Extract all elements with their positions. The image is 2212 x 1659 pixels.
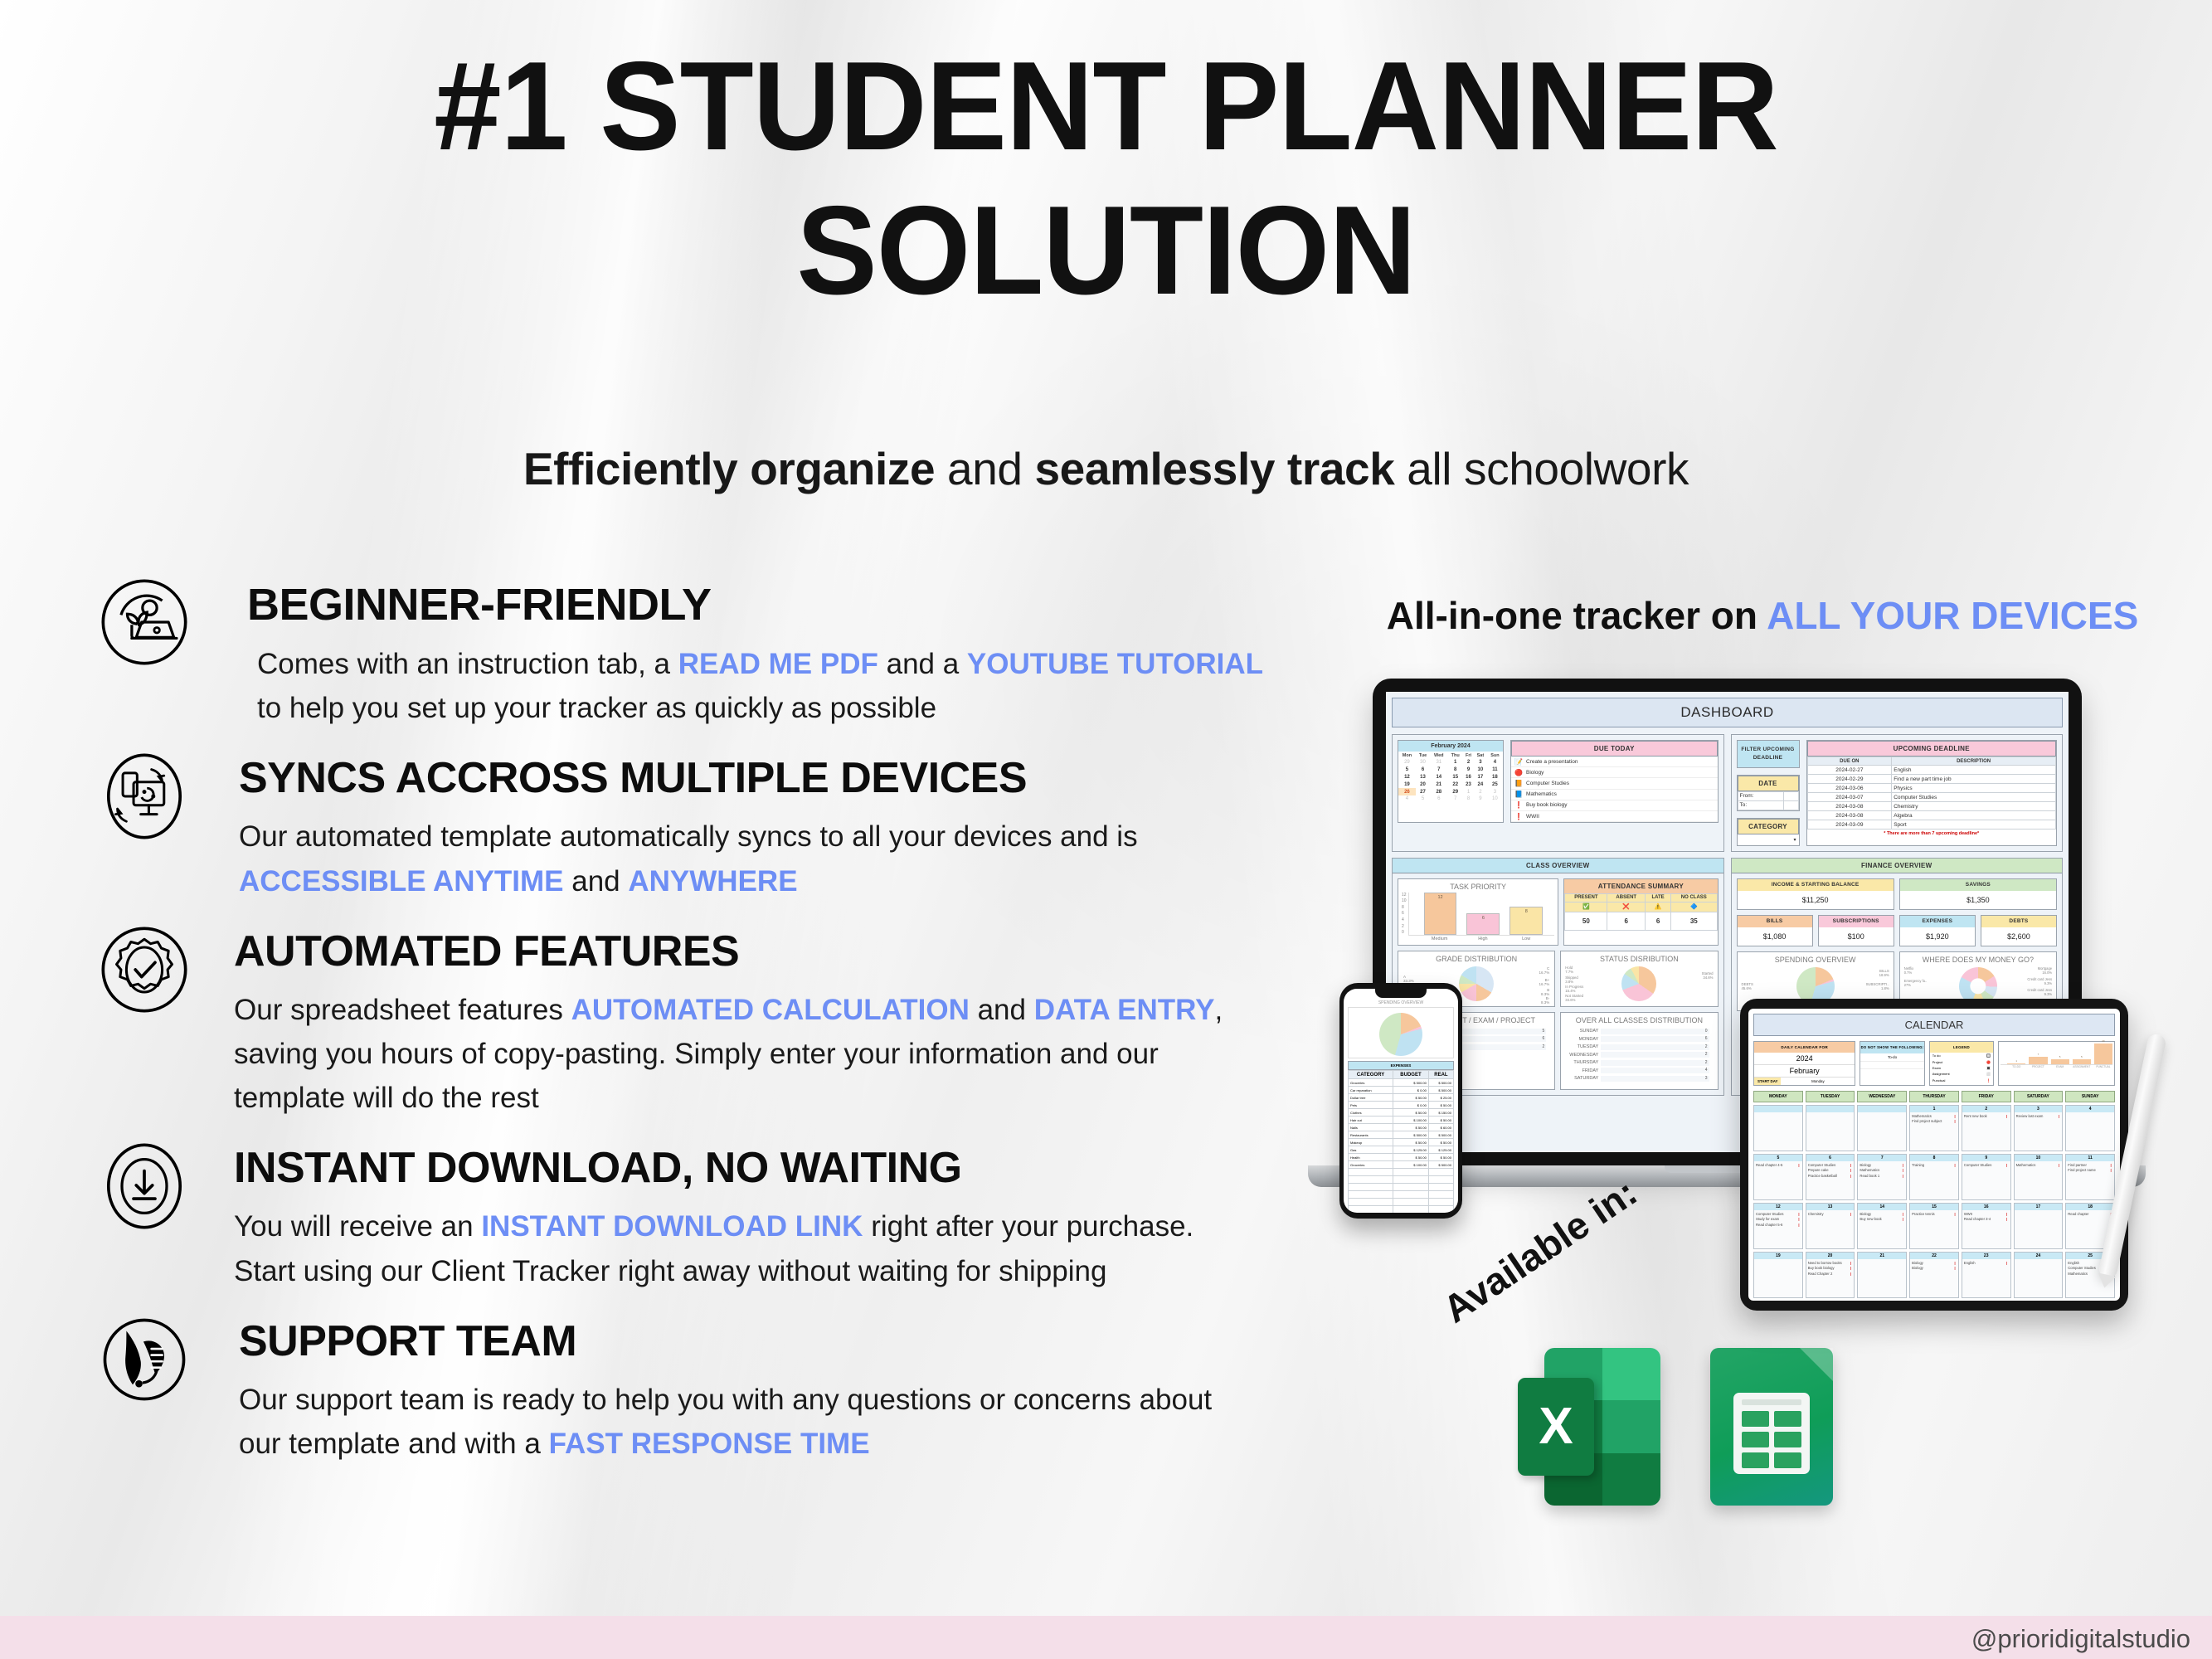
calendar-cell[interactable]: 4 [2065, 1105, 2115, 1151]
calendar-cell[interactable] [1753, 1105, 1803, 1151]
bar-track: 2 [1601, 1060, 1709, 1066]
calendar-day[interactable]: 10 [1487, 795, 1503, 803]
calendar-day[interactable]: 22 [1447, 781, 1463, 788]
cell-due-on: 2024-03-07 [1807, 793, 1892, 802]
kpi-label: EXPENSES [1900, 916, 1975, 927]
event-marker-icon: ❙ [1953, 1266, 1957, 1271]
subtitle-bold-2: seamlessly track [1034, 443, 1394, 494]
calendar-cell-number: 18 [2066, 1204, 2114, 1210]
event-marker-icon: ❙ [2109, 1168, 2112, 1173]
calendar-cell[interactable]: 8Training❙ [1909, 1154, 1959, 1200]
calendar-weekday: TUESDAY [1806, 1091, 1855, 1102]
calendar-cell[interactable] [1857, 1105, 1907, 1151]
calendar-year[interactable]: 2024 [1754, 1053, 1855, 1064]
bar-track: 4 [1601, 1068, 1709, 1073]
calendar-cell[interactable]: 11Find partner❙Find project name❙ [2065, 1154, 2115, 1200]
bar-value: 2 [1705, 1060, 1708, 1065]
calendar-event[interactable]: Practice tennis❙ [1912, 1212, 1957, 1217]
column-header: ABSENT [1607, 893, 1646, 902]
kpi-value: $100 [1819, 927, 1894, 946]
calendar-week: 45678910 [1398, 795, 1503, 803]
due-today-item[interactable]: 🔴Biology [1511, 767, 1718, 778]
start-day-value[interactable]: Monday [1781, 1078, 1855, 1085]
event-marker-icon: ❙ [1953, 1119, 1957, 1124]
feature-item-automated-features: AUTOMATED FEATURES Our spreadsheet featu… [100, 920, 1310, 1121]
calendar-cell-number: 23 [1962, 1253, 2010, 1259]
table-row: Dollar tree$ 50.00$ 25.00 [1349, 1094, 1454, 1102]
filter-title[interactable]: FILTER UPCOMING DEADLINE [1737, 740, 1800, 768]
start-day-label: START DAY [1754, 1078, 1781, 1085]
date-filter[interactable]: DATE From: To: [1737, 775, 1800, 811]
feature-description: Our spreadsheet features AUTOMATED CALCU… [234, 988, 1254, 1121]
legend-label: To do [1932, 1053, 1941, 1058]
devices-sync-icon [100, 747, 199, 841]
event-label: Biology [1912, 1266, 1923, 1271]
pie-label: C16.7% [1539, 966, 1549, 975]
table-row: Makeup$ 50.00$ 50.00 [1349, 1139, 1454, 1146]
bar: 5 [2051, 1059, 2069, 1064]
calendar-weekday: SATURDAY [2014, 1091, 2064, 1102]
kpi-card: DEBTS$2,600 [1981, 915, 2057, 946]
calendar-cell-number: 2 [1962, 1106, 2010, 1112]
kpi-card: INCOME & STARTING BALANCE$11,250 [1737, 878, 1894, 910]
event-label: Mathematics [2068, 1272, 2088, 1277]
calendar-cell[interactable]: 15Practice tennis❙ [1909, 1203, 1959, 1249]
cell-description: Find a new part time job [1892, 775, 2056, 784]
from-label: From: [1738, 791, 1784, 800]
event-marker-icon: ❙ [2058, 1163, 2061, 1168]
calendar-cell-events: Mathematics❙Find project subject❙ [1910, 1112, 1958, 1125]
cell-real: $ 500.00 [1428, 1079, 1453, 1087]
calendar-day[interactable]: 10 [1474, 766, 1487, 774]
cell-budget: $ 50.00 [1393, 1154, 1429, 1161]
table-row[interactable]: 2024-03-06Physics [1807, 784, 2056, 793]
calendar-day[interactable]: 24 [1474, 781, 1487, 788]
calendar-day[interactable]: 9 [1463, 766, 1474, 774]
empty-row [1349, 1176, 1454, 1184]
kpi-label: SAVINGS [1900, 879, 2056, 891]
calendar-week: 26272829123 [1398, 788, 1503, 795]
calendar-cell[interactable]: 7Biology❙Mathematics❙Read book 1❙ [1857, 1154, 1907, 1200]
bar: 12 [1424, 893, 1457, 935]
table-row: Groceries$ 100.00$ 500.00 [1349, 1161, 1454, 1169]
tablet-screen: CALENDAR DAILY CALENDAR FOR 2024 Februar… [1748, 1009, 2120, 1301]
calendar-month[interactable]: February [1754, 1064, 1855, 1077]
calendar-event[interactable]: Read Chapter 2❙ [1808, 1272, 1853, 1277]
calendar-cell[interactable]: 6Computer Studies❙Prepare cake❙Practice … [1806, 1154, 1855, 1200]
calendar-cell[interactable]: 21 [1857, 1252, 1907, 1298]
calendar-week: 19202122232425 [1398, 781, 1503, 788]
tablet-bezel: CALENDAR DAILY CALENDAR FOR 2024 Februar… [1740, 999, 2128, 1311]
due-today-item[interactable]: 📙Computer Studies [1511, 778, 1718, 789]
task-priority-chart: TASK PRIORITY 024681012 1268 MediumHighL… [1398, 878, 1558, 946]
calendar-cell[interactable]: 2Rent new book❙ [1962, 1105, 2011, 1151]
calendar-cell[interactable]: 24 [2014, 1252, 2064, 1298]
cell-real: $ 50.00 [1428, 1102, 1453, 1109]
bar-label: SATURDAY [1569, 1076, 1601, 1081]
calendar-cell-events: Computer Studies❙Prepare cake❙Practice b… [1806, 1161, 1855, 1179]
calendar-cell-events [1754, 1112, 1802, 1114]
weekday-header: Tue [1416, 752, 1430, 759]
table-header-row: PRESENTABSENTLATENO CLASS [1565, 893, 1717, 902]
finance-kpi-row-2: BILLS$1,080SUBSCRIPTIONS$100EXPENSES$1,9… [1732, 915, 2063, 951]
bar-track: 6 [1601, 1036, 1709, 1042]
feature-description: Our automated template automatically syn… [239, 815, 1259, 902]
calendar-day[interactable]: 26 [1398, 788, 1416, 795]
calendar-event[interactable]: English❙ [1964, 1261, 2009, 1266]
y-tick: 12 [1402, 893, 1407, 898]
available-in-label: Available in: [1435, 1188, 1618, 1331]
calendar-day[interactable]: 23 [1463, 781, 1474, 788]
legend-bar-chart: 175520 TO-DOPROJECTEXAMASSIGNMENTPUNCTUA… [1998, 1041, 2115, 1086]
calendar-event[interactable]: Review last exam❙ [2016, 1114, 2061, 1119]
cell-category: Gas [1349, 1146, 1393, 1154]
y-tick: 8 [1402, 905, 1407, 910]
y-tick: 0 [1402, 930, 1407, 935]
desc-part: and a [878, 648, 967, 680]
do-not-show-value[interactable]: To-do [1860, 1053, 1923, 1062]
calendar-day[interactable]: 28 [1430, 788, 1447, 795]
calendar-day[interactable]: 4 [1487, 759, 1503, 766]
cell-budget: $ 50.00 [1393, 1094, 1429, 1102]
event-label: Find project subject [1912, 1119, 1942, 1124]
calendar-cell-number [1754, 1106, 1802, 1112]
event-label: Practice tennis [1912, 1212, 1934, 1217]
calendar-cell-number [1858, 1106, 1906, 1112]
chart-title: OVER ALL CLASSES DISTRIBUTION [1564, 1016, 1714, 1024]
icon-row: ✅❌⚠️🔷 [1565, 902, 1717, 912]
feature-item-instant-download: INSTANT DOWNLOAD, NO WAITING You will re… [100, 1136, 1310, 1292]
calendar-cell-events [2066, 1112, 2114, 1114]
bar-row: THURSDAY2 [1569, 1060, 1709, 1066]
task-label: Create a presentation [1526, 759, 1578, 765]
calendar-day[interactable]: 1 [1463, 788, 1474, 795]
phone-screen: SPENDING OVERVIEW EXPENSES CATEGORYBUDGE… [1344, 989, 1458, 1213]
attendance-summary-card: ATTENDANCE SUMMARY PRESENTABSENTLATENO C… [1563, 878, 1718, 946]
cell-category: Clothes [1349, 1109, 1393, 1117]
cell-category: Groceries [1349, 1161, 1393, 1169]
upcoming-table: DUE ONDESCRIPTION2024-02-27English2024-0… [1807, 757, 2057, 829]
calendar-cell-number: 15 [1910, 1204, 1958, 1210]
daily-calendar-control[interactable]: DAILY CALENDAR FOR 2024 February START D… [1753, 1041, 1855, 1086]
table-row[interactable]: 2024-03-08Algebra [1807, 811, 2056, 820]
calendar-day[interactable]: 11 [1487, 766, 1503, 774]
cell-budget: $ 50.00 [1393, 1139, 1429, 1146]
calendar-cell[interactable]: 9Computer Studies❙ [1962, 1154, 2011, 1200]
calendar-cell-events: Need to borrow books❙Buy book biology❙Re… [1806, 1259, 1855, 1277]
due-today-item[interactable]: 📝Create a presentation [1511, 757, 1718, 767]
classes-distribution-chart: OVER ALL CLASSES DISTRIBUTION SUNDAY0MON… [1560, 1012, 1718, 1091]
cell-budget: $ 100.00 [1393, 1161, 1429, 1169]
due-today-item[interactable]: ❗Buy book biology [1511, 800, 1718, 811]
calendar-cell-events: Biology❙Biology❙ [1910, 1259, 1958, 1272]
calendar-event[interactable]: Read chapter 5-6❙ [1756, 1223, 1801, 1228]
calendar-day[interactable]: 3 [1487, 788, 1503, 795]
cell-due-on: 2024-03-09 [1807, 820, 1892, 829]
bar-value: 2 [1705, 1052, 1708, 1057]
calendar-cell[interactable]: 3Review last exam❙ [2014, 1105, 2064, 1151]
due-today-item[interactable]: 📘Mathematics [1511, 790, 1718, 800]
do-not-show-slot[interactable] [1860, 1069, 1923, 1077]
title-line-1: #1 STUDENT PLANNER [434, 36, 1777, 177]
attendance-value: 50 [1565, 912, 1607, 930]
calendar-cell-events: WWII❙Read chapter 3-4❙ [1962, 1210, 2010, 1223]
calendar-day[interactable]: 7 [1430, 766, 1447, 774]
phone-pie-chart [1379, 1013, 1422, 1056]
calendar-event[interactable]: Read chapter❙ [2068, 1212, 2112, 1217]
calendar-day[interactable]: 16 [1463, 774, 1474, 781]
column-header: BUDGET [1393, 1071, 1429, 1079]
calendar-event[interactable]: Read chapter 3-4❙ [1964, 1217, 2009, 1222]
calendar-cell-events [2015, 1210, 2063, 1212]
table-row: Gas$ 125.00$ 125.00 [1349, 1146, 1454, 1154]
calendar-cell-number: 5 [1754, 1155, 1802, 1161]
calendar-day[interactable]: 1 [1447, 759, 1463, 766]
calendar-day[interactable]: 6 [1430, 795, 1447, 803]
calendar-cell-number: 22 [1910, 1253, 1958, 1259]
calendar-cell-number: 6 [1806, 1155, 1855, 1161]
calendar-day[interactable]: 2 [1463, 759, 1474, 766]
calendar-day[interactable]: 27 [1416, 788, 1430, 795]
calendar-cell-events: Computer Studies❙Study for exam❙Read cha… [1754, 1210, 1802, 1228]
calendar-weekday: FRIDAY [1962, 1091, 2011, 1102]
calendar-cell[interactable]: 23English❙ [1962, 1252, 2011, 1298]
calendar-cell[interactable] [1806, 1105, 1855, 1151]
phone-notch [1375, 989, 1427, 998]
status-icon: ✅ [1565, 902, 1607, 912]
calendar-event[interactable]: Buy new book❙ [1860, 1217, 1904, 1222]
cell-real: $ 50.00 [1428, 1154, 1453, 1161]
calendar-cell-number: 16 [1962, 1204, 2010, 1210]
calendar-event[interactable]: Mathematics❙ [2016, 1163, 2061, 1168]
table-row[interactable]: 2024-03-09Sport [1807, 820, 2056, 829]
calendar-cell[interactable]: 17 [2014, 1203, 2064, 1249]
pie-label: Started34.6% [1702, 971, 1714, 980]
bar-label: SUNDAY [1569, 1029, 1601, 1034]
pie-label: Emergency fu..27% [1904, 979, 1928, 987]
y-tick: 2 [1402, 924, 1407, 929]
cell-description: Algebra [1892, 811, 2056, 820]
cell-category: Pets [1349, 1102, 1393, 1109]
calendar-day[interactable]: 8 [1447, 766, 1463, 774]
pie-label: Not Started34.6% [1565, 994, 1583, 1002]
calendar-event[interactable]: Find project subject❙ [1912, 1119, 1957, 1124]
pie-label: Skipped3.8% [1565, 975, 1578, 984]
event-label: Find project name [2068, 1168, 2096, 1173]
pie-label: A33.3% [1403, 975, 1414, 983]
calendar-cell[interactable]: 10Mathematics❙ [2014, 1154, 2064, 1200]
calendar-event[interactable]: Find project name❙ [2068, 1168, 2112, 1173]
event-marker-icon: ❙ [2005, 1261, 2009, 1266]
excel-logo: X [1518, 1348, 1660, 1506]
calendar-cell[interactable]: 22Biology❙Biology❙ [1909, 1252, 1959, 1298]
calendar-day[interactable]: 31 [1430, 759, 1447, 766]
bar-value: 3 [1705, 1076, 1708, 1081]
due-today-card: DUE TODAY 📝Create a presentation🔴Biology… [1510, 740, 1719, 823]
bar-track: 2 [1601, 1052, 1709, 1058]
due-today-item[interactable]: ❗WWII [1511, 811, 1718, 822]
calendar-event[interactable]: Computer Studies❙ [1964, 1163, 2009, 1168]
upcoming-deadline-card: UPCOMING DEADLINE DUE ONDESCRIPTION2024-… [1806, 740, 2058, 846]
desc-part: to help you set up your tracker as quick… [257, 692, 936, 724]
calendar-cell-events: Rent new book❙ [1962, 1112, 2010, 1119]
calendar-cell[interactable]: 1Mathematics❙Find project subject❙ [1909, 1105, 1959, 1151]
due-today-title: DUE TODAY [1511, 741, 1718, 757]
calendar-cell-events: Mathematics❙ [2015, 1161, 2063, 1168]
calendar-day[interactable]: 5 [1398, 766, 1416, 774]
calendar-day[interactable]: 12 [1398, 774, 1416, 781]
calendar-cell-events: Review last exam❙ [2015, 1112, 2063, 1119]
table-row[interactable]: 2024-03-08Chemistry [1807, 802, 2056, 811]
finance-kpi-row-1: INCOME & STARTING BALANCE$11,250SAVINGS$… [1732, 873, 2063, 915]
column-header: DESCRIPTION [1892, 757, 2056, 766]
event-marker-icon: ❙ [1797, 1163, 1801, 1168]
bar-track: 2 [1601, 1044, 1709, 1050]
bar-label: THURSDAY [1569, 1060, 1601, 1065]
calendar-day[interactable]: 4 [1398, 795, 1416, 803]
do-not-show-slot[interactable] [1860, 1062, 1923, 1069]
task-type-icon: 📙 [1514, 780, 1526, 787]
calendar-cell[interactable]: 5Read chapter 4-5❙ [1753, 1154, 1803, 1200]
table-row: Hair cut$ 100.00$ 50.00 [1349, 1117, 1454, 1124]
calendar-day[interactable]: 15 [1447, 774, 1463, 781]
calendar-day[interactable]: 19 [1398, 781, 1416, 788]
legend-swatch: 🔴 [1986, 1060, 1991, 1064]
calendar-day[interactable]: 2 [1474, 788, 1487, 795]
page-subtitle: Efficiently organize and seamlessly trac… [0, 442, 2212, 495]
calendar-day[interactable]: 3 [1474, 759, 1487, 766]
table-row[interactable]: 2024-02-29Find a new part time job [1807, 775, 2056, 784]
calendar-day[interactable]: 9 [1474, 795, 1487, 803]
legend-item: Project🔴 [1930, 1058, 1993, 1064]
bar-value: 1 [2007, 1059, 2025, 1063]
event-marker-icon: ❙ [1850, 1272, 1853, 1277]
calendar-cell-events: Biology❙Mathematics❙Read book 1❙ [1858, 1161, 1906, 1179]
status-icon: ⚠️ [1646, 902, 1671, 912]
calendar-cell[interactable]: 13Chemistry❙ [1806, 1203, 1855, 1249]
bar-label: WEDNESDAY [1569, 1053, 1601, 1058]
cell-budget: $ 500.00 [1393, 1079, 1429, 1087]
class-overview-title: CLASS OVERVIEW [1393, 859, 1723, 873]
kpi-value: $11,250 [1738, 891, 1894, 909]
event-label: Buy new book [1860, 1217, 1881, 1222]
calendar-day[interactable]: 29 [1447, 788, 1463, 795]
y-tick: 10 [1402, 898, 1407, 903]
table-row[interactable]: 2024-02-27English [1807, 766, 2056, 775]
category-filter[interactable]: CATEGORY ▾ [1737, 818, 1800, 846]
legend-label: Exam [1932, 1066, 1941, 1070]
calendar-cell[interactable]: 20Need to borrow books❙Buy book biology❙… [1806, 1252, 1855, 1298]
event-label: Mathematics [2016, 1163, 2036, 1168]
pie-label: DEBTS45.6% [1742, 982, 1753, 990]
calendar-day[interactable]: 7 [1447, 795, 1463, 803]
calendar-day[interactable]: 6 [1416, 766, 1430, 774]
calendar-cell-number: 19 [1754, 1253, 1802, 1259]
bar-row: SUNDAY0 [1569, 1029, 1709, 1034]
column-header: DUE ON [1807, 757, 1892, 766]
table-header-row: CATEGORYBUDGETREAL [1349, 1071, 1454, 1079]
calendar-cell[interactable]: 19 [1753, 1252, 1803, 1298]
calendar-event[interactable]: Read book 1❙ [1860, 1174, 1904, 1179]
event-label: Practice basketball [1808, 1174, 1837, 1179]
cell-category: Hair cut [1349, 1117, 1393, 1124]
phone-mockup: SPENDING OVERVIEW EXPENSES CATEGORYBUDGE… [1339, 983, 1462, 1219]
kpi-value: $1,920 [1900, 927, 1975, 946]
event-label: Chemistry [1808, 1212, 1824, 1217]
calendar-day[interactable]: 21 [1430, 781, 1447, 788]
cell-description: Sport [1892, 820, 2056, 829]
empty-row [1349, 1199, 1454, 1206]
bar-track: 0 [1601, 1029, 1709, 1034]
calendar-cell[interactable]: 16WWII❙Read chapter 3-4❙ [1962, 1203, 2011, 1249]
calendar-event[interactable]: Practice basketball❙ [1808, 1174, 1853, 1179]
calendar-cell[interactable]: 14Biology❙Buy new book❙ [1857, 1203, 1907, 1249]
calendar-cell-number: 12 [1754, 1204, 1802, 1210]
to-input[interactable] [1784, 800, 1798, 810]
calendar-day[interactable]: 18 [1487, 774, 1503, 781]
cell-due-on: 2024-02-27 [1807, 766, 1892, 775]
cell-category: Makeup [1349, 1139, 1393, 1146]
calendar-day[interactable]: 25 [1487, 781, 1503, 788]
feature-item-beginner-friendly: BEGINNER-FRIENDLY Comes with an instruct… [100, 572, 1310, 730]
x-tick: ASSIGNMENT [2073, 1065, 2091, 1068]
from-input[interactable] [1784, 791, 1798, 800]
bar: 7 [2029, 1057, 2047, 1064]
cell-real: $ 500.00 [1428, 1161, 1453, 1169]
bar-value: 5 [2051, 1055, 2069, 1058]
legend-item: Assignment⬜ [1930, 1071, 1993, 1077]
calendar-event[interactable]: Read chapter 4-5❙ [1756, 1163, 1801, 1168]
cell-real: $ 50.00 [1428, 1139, 1453, 1146]
do-not-show-control[interactable]: DO NOT SHOW THE FOLLOWING: To-do [1860, 1041, 1924, 1086]
calendar-day[interactable]: 8 [1463, 795, 1474, 803]
calendar-event[interactable]: Training❙ [1912, 1163, 1957, 1168]
table-row[interactable]: 2024-03-07Computer Studies [1807, 793, 2056, 802]
phone-bezel: SPENDING OVERVIEW EXPENSES CATEGORYBUDGE… [1339, 983, 1462, 1219]
bar-value: 20 [2094, 1039, 2112, 1043]
attendance-table: PRESENTABSENTLATENO CLASS✅❌⚠️🔷506635 [1564, 893, 1717, 931]
task-type-icon: 🔴 [1514, 769, 1526, 776]
column-header: PRESENT [1565, 893, 1607, 902]
calendar-day[interactable]: 14 [1430, 774, 1447, 781]
calendar-day[interactable]: 5 [1416, 795, 1430, 803]
calendar-event[interactable]: Chemistry❙ [1808, 1212, 1853, 1217]
calendar-cell[interactable]: 12Computer Studies❙Study for exam❙Read c… [1753, 1203, 1803, 1249]
calendar-day[interactable]: 30 [1416, 759, 1430, 766]
table-row: Nails$ 50.00$ 60.00 [1349, 1124, 1454, 1131]
event-marker-icon: ❙ [1953, 1163, 1957, 1168]
category-dropdown[interactable]: ▾ [1738, 834, 1799, 845]
y-tick: 4 [1402, 917, 1407, 922]
task-type-icon: ❗ [1514, 813, 1526, 820]
empty-row [1349, 1191, 1454, 1199]
legend-panel: LEGEND To do🔲Project🔴Exam🔳Assignment⬜Pun… [1929, 1041, 1994, 1086]
calendar-day[interactable]: 13 [1416, 774, 1430, 781]
event-marker-icon: ❙ [2058, 1114, 2061, 1119]
cell-real: $ 25.00 [1428, 1094, 1453, 1102]
calendar-cell-number: 21 [1858, 1253, 1906, 1259]
desc-part: and [564, 865, 629, 898]
calendar-day[interactable]: 29 [1398, 759, 1416, 766]
calendar-cell-number: 3 [2015, 1106, 2063, 1112]
calendar-event[interactable]: Rent new book❙ [1964, 1114, 2009, 1119]
calendar-day[interactable]: 17 [1474, 774, 1487, 781]
calendar-event[interactable]: Biology❙ [1912, 1266, 1957, 1271]
column-header: NO CLASS [1671, 893, 1717, 902]
calendar-day[interactable]: 20 [1416, 781, 1430, 788]
dashboard-panel-due-today: February 2024 MonTueWedThuFriSatSun29303… [1392, 734, 1724, 852]
mini-calendar-month: February 2024 [1398, 741, 1503, 752]
